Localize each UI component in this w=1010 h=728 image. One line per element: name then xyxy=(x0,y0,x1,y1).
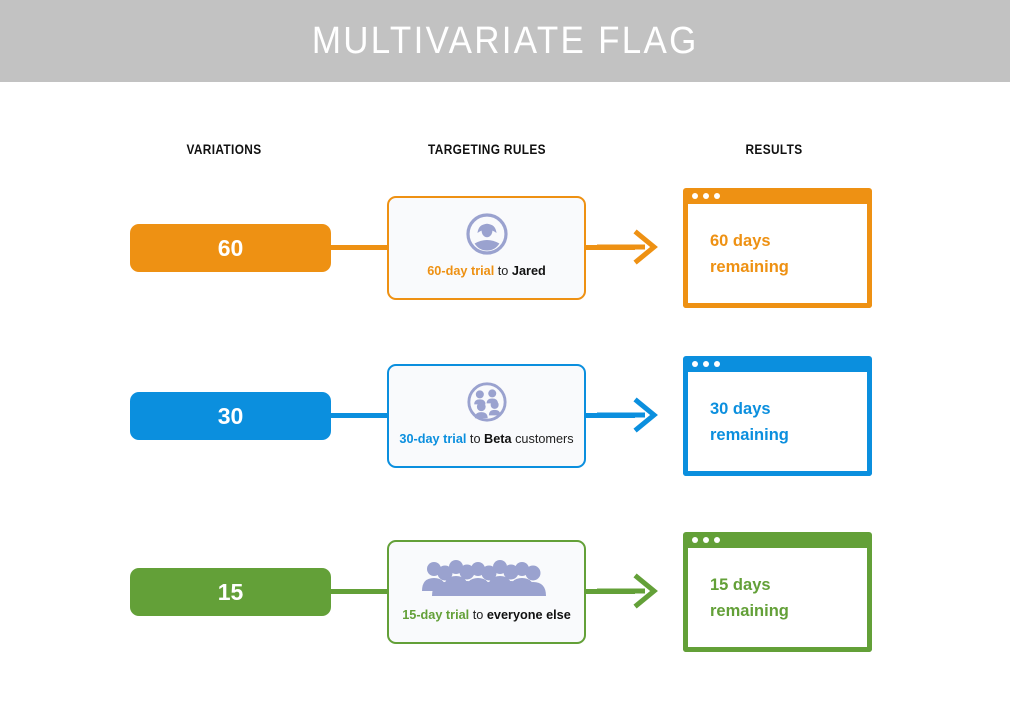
window-title-bar xyxy=(683,356,872,372)
flag-row: 15 xyxy=(0,527,1010,657)
result-text: 15 days remaining xyxy=(710,572,789,624)
window-dot-icon xyxy=(692,193,698,199)
result-text-line1: 15 days xyxy=(710,572,789,598)
window-dot-icon xyxy=(714,193,720,199)
connector-line-left xyxy=(331,245,388,250)
arrow-icon xyxy=(597,573,659,609)
window-dot-icon xyxy=(692,361,698,367)
connector-line-left xyxy=(331,413,388,418)
targeting-rule-card[interactable]: 30-day trial to Beta customers xyxy=(387,364,586,468)
column-header-results: RESULTS xyxy=(704,142,845,157)
targeting-rule-card[interactable]: 60-day trial to Jared xyxy=(387,196,586,300)
window-dot-icon xyxy=(714,361,720,367)
connector-line-left xyxy=(331,589,388,594)
window-dot-icon xyxy=(703,361,709,367)
rule-accent-text: 60-day trial xyxy=(427,264,494,278)
variation-pill[interactable]: 30 xyxy=(130,392,331,440)
window-title-bar xyxy=(683,188,872,204)
variation-value: 15 xyxy=(218,579,244,606)
result-window[interactable]: 60 days remaining xyxy=(683,188,872,308)
rule-middle-text: to xyxy=(494,264,512,278)
window-dot-icon xyxy=(692,537,698,543)
arrow-icon xyxy=(597,397,659,433)
rule-tail-text: customers xyxy=(512,432,574,446)
window-dot-icon xyxy=(703,193,709,199)
result-window[interactable]: 30 days remaining xyxy=(683,356,872,476)
column-header-targeting-rules: TARGETING RULES xyxy=(417,142,558,157)
result-text-line1: 30 days xyxy=(710,396,789,422)
rule-accent-text: 15-day trial xyxy=(402,608,469,622)
rule-middle-text: to xyxy=(469,608,487,622)
variation-pill[interactable]: 60 xyxy=(130,224,331,272)
result-text-line2: remaining xyxy=(710,598,789,624)
window-body: 15 days remaining xyxy=(683,548,872,652)
window-title-bar xyxy=(683,532,872,548)
result-window[interactable]: 15 days remaining xyxy=(683,532,872,652)
targeting-rule-text: 15-day trial to everyone else xyxy=(394,607,579,624)
single-person-circle-icon xyxy=(465,211,509,257)
column-header-variations: VARIATIONS xyxy=(154,142,295,157)
rule-bold-text: Beta xyxy=(484,432,512,446)
targeting-rule-text: 60-day trial to Jared xyxy=(419,263,554,280)
result-text: 30 days remaining xyxy=(710,396,789,448)
result-text-line2: remaining xyxy=(710,422,789,448)
window-dot-icon xyxy=(703,537,709,543)
rule-accent-text: 30-day trial xyxy=(399,432,466,446)
arrow-icon xyxy=(597,229,659,265)
window-body: 30 days remaining xyxy=(683,372,872,476)
flag-row: 30 30-day trial to Beta customers xyxy=(0,351,1010,481)
page-title: MULTIVARIATE FLAG xyxy=(312,20,699,63)
result-text-line1: 60 days xyxy=(710,228,789,254)
result-text: 60 days remaining xyxy=(710,228,789,280)
rule-bold-text: Jared xyxy=(512,264,546,278)
window-body: 60 days remaining xyxy=(683,204,872,308)
diagram-canvas: MULTIVARIATE FLAG VARIATIONS TARGETING R… xyxy=(0,0,1010,728)
crowd-people-icon xyxy=(421,555,553,601)
targeting-rule-card[interactable]: 15-day trial to everyone else xyxy=(387,540,586,644)
rule-bold-text: everyone else xyxy=(487,608,571,622)
window-dot-icon xyxy=(714,537,720,543)
header-bar: MULTIVARIATE FLAG xyxy=(0,0,1010,82)
targeting-rule-text: 30-day trial to Beta customers xyxy=(391,431,581,448)
result-text-line2: remaining xyxy=(710,254,789,280)
rule-middle-text: to xyxy=(466,432,484,446)
group-people-circle-icon xyxy=(466,379,508,425)
variation-value: 60 xyxy=(218,235,244,262)
variation-value: 30 xyxy=(218,403,244,430)
variation-pill[interactable]: 15 xyxy=(130,568,331,616)
flag-row: 60 60-day trial to Jared xyxy=(0,183,1010,313)
